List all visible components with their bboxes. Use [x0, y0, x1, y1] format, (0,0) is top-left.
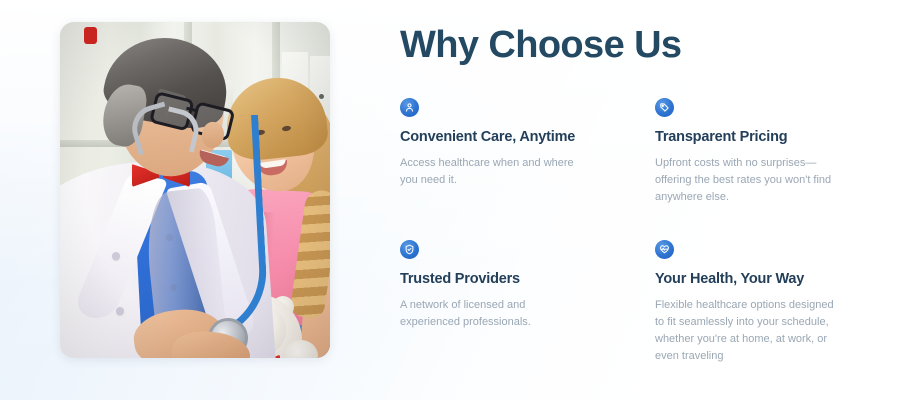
feature-description: Flexible healthcare options designed to …	[655, 297, 841, 365]
feature-description: Upfront costs with no surprises—offering…	[655, 155, 841, 206]
why-choose-us-section: Why Choose Us Convenient Care, Anytime A…	[0, 0, 897, 400]
feature-title: Trusted Providers	[400, 270, 655, 288]
feature-your-health-your-way: Your Health, Your Way Flexible healthcar…	[655, 240, 860, 365]
feature-title: Your Health, Your Way	[655, 270, 860, 288]
page-title: Why Choose Us	[400, 22, 681, 68]
hero-photo	[60, 22, 330, 358]
feature-description: A network of licensed and experienced pr…	[400, 297, 582, 331]
feature-description: Access healthcare when and where you nee…	[400, 155, 582, 189]
feature-convenient-care: Convenient Care, Anytime Access healthca…	[400, 98, 655, 206]
features-grid: Convenient Care, Anytime Access healthca…	[400, 98, 860, 365]
shield-check-icon	[400, 240, 419, 259]
price-tag-icon	[655, 98, 674, 117]
feature-transparent-pricing: Transparent Pricing Upfront costs with n…	[655, 98, 860, 206]
content-column: Why Choose Us Convenient Care, Anytime A…	[400, 0, 860, 400]
bowtie-knot	[84, 27, 97, 44]
coat-button	[116, 307, 124, 315]
feature-title: Convenient Care, Anytime	[400, 128, 655, 146]
photo-illustration	[60, 22, 330, 358]
user-clock-icon	[400, 98, 419, 117]
feature-title: Transparent Pricing	[655, 128, 860, 146]
binder-label-dot	[319, 94, 324, 99]
heart-pulse-icon	[655, 240, 674, 259]
feature-trusted-providers: Trusted Providers A network of licensed …	[400, 240, 655, 365]
coat-button	[112, 252, 120, 260]
